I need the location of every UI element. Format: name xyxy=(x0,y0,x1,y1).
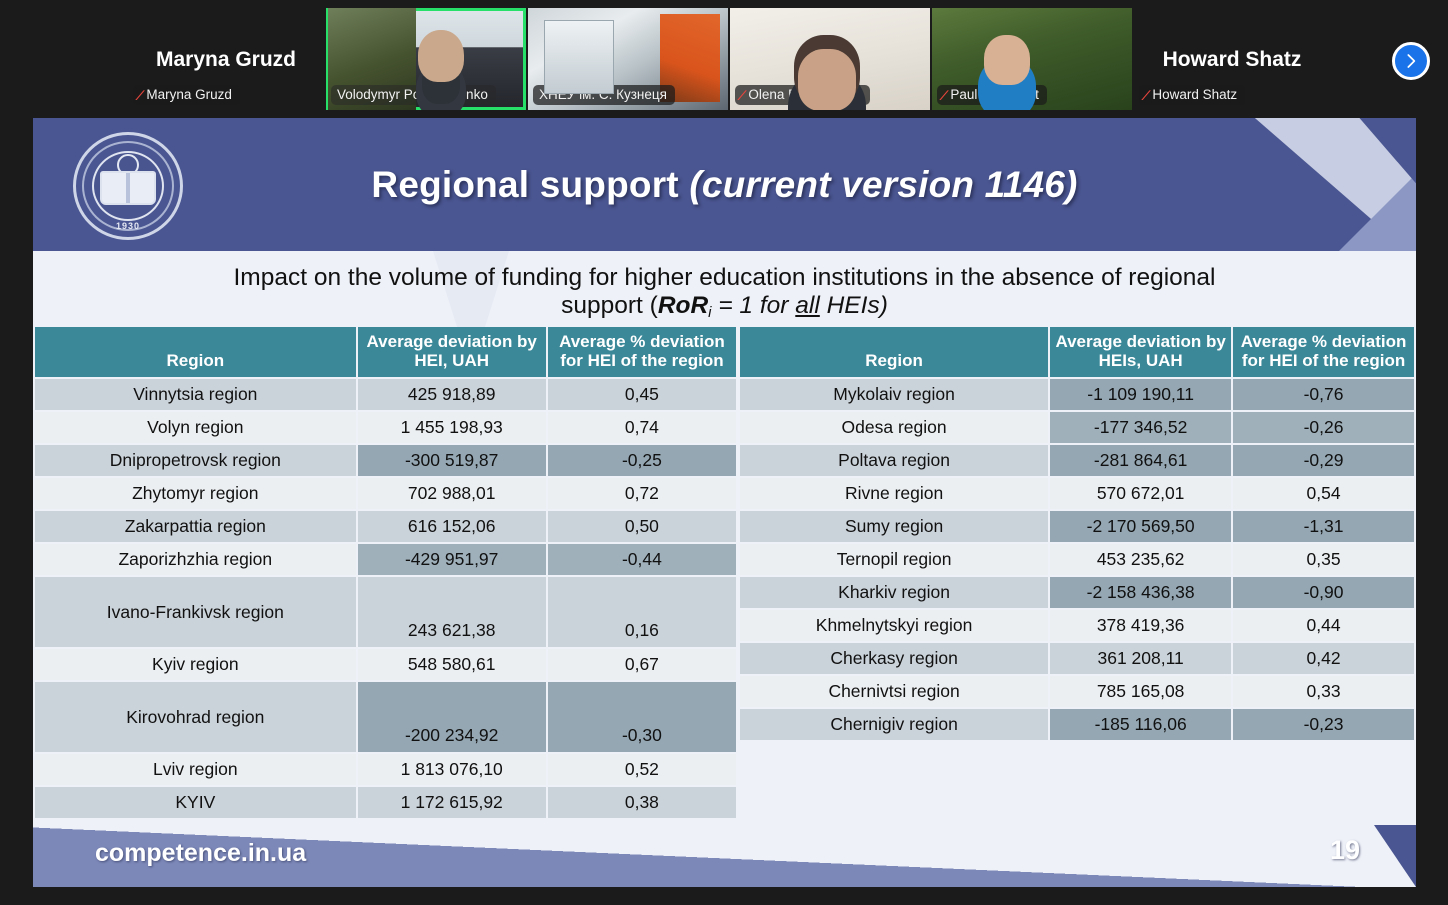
table-row: Dnipropetrovsk region-300 519,87-0,25 xyxy=(35,445,736,476)
cell-deviation: 785 165,08 xyxy=(1050,676,1231,707)
subtitle-middle: = 1 for xyxy=(712,292,796,319)
cell-region: KYIV xyxy=(35,787,356,818)
next-participants-button[interactable] xyxy=(1392,42,1430,80)
chevron-right-icon xyxy=(1403,53,1419,69)
slide-page-number: 19 xyxy=(1330,835,1360,866)
table-row: Ivano-Frankivsk region243 621,380,16 xyxy=(35,577,736,647)
cell-deviation: 1 455 198,93 xyxy=(358,412,546,443)
subtitle-suffix: HEIs) xyxy=(820,292,888,319)
column-header-deviation: Average deviation by HEI, UAH xyxy=(358,327,546,377)
cell-deviation: -200 234,92 xyxy=(358,682,546,752)
cell-percent: 0,52 xyxy=(548,754,736,785)
cell-region: Ternopil region xyxy=(740,544,1048,575)
cell-deviation: 548 580,61 xyxy=(358,649,546,680)
cell-region: Zakarpattia region xyxy=(35,511,356,542)
video-tile-3[interactable]: ХНЕУ ім. С. Кузнеця xyxy=(528,8,728,110)
cell-region: Chernigiv region xyxy=(740,709,1048,740)
table-row: Mykolaiv region-1 109 190,11-0,76 xyxy=(740,379,1414,410)
table-row: Zhytomyr region702 988,010,72 xyxy=(35,478,736,509)
cell-percent: 0,50 xyxy=(548,511,736,542)
cell-region: Dnipropetrovsk region xyxy=(35,445,356,476)
muted-microphone-icon: ∕ xyxy=(942,88,947,102)
table-right: RegionAverage deviation by HEIs, UAHAver… xyxy=(738,325,1416,742)
cell-percent: 0,45 xyxy=(548,379,736,410)
cell-percent: -0,44 xyxy=(548,544,736,575)
cell-deviation: -429 951,97 xyxy=(358,544,546,575)
book-icon xyxy=(100,171,156,205)
participant-display-name: Maryna Gruzd xyxy=(128,48,324,72)
video-tile-6[interactable]: Howard Shatz∕Howard Shatz xyxy=(1134,8,1330,110)
table-row: Kirovohrad region-200 234,92-0,30 xyxy=(35,682,736,752)
cell-deviation: 378 419,36 xyxy=(1050,610,1231,641)
participant-name-bar: ∕Olena Rayevnyeva xyxy=(735,85,870,105)
participant-name-bar: Volodymyr Ponomarenko xyxy=(331,85,496,105)
participant-name-label: Volodymyr Ponomarenko xyxy=(337,87,488,102)
subtitle-ror: RoR xyxy=(658,292,708,319)
cell-region: Ivano-Frankivsk region xyxy=(35,577,356,647)
cell-region: Poltava region xyxy=(740,445,1048,476)
cell-deviation: -2 158 436,38 xyxy=(1050,577,1231,608)
cell-percent: -1,31 xyxy=(1233,511,1414,542)
table-row: Sumy region-2 170 569,50-1,31 xyxy=(740,511,1414,542)
column-header-region: Region xyxy=(740,327,1048,377)
cell-region: Kyiv region xyxy=(35,649,356,680)
cell-percent: 0,16 xyxy=(548,577,736,647)
cell-percent: -0,29 xyxy=(1233,445,1414,476)
column-header-percent: Average % deviation for HEI of the regio… xyxy=(548,327,736,377)
participant-name-label: Paul Seabright xyxy=(950,87,1039,102)
university-logo: 1930 xyxy=(73,132,183,240)
cell-region: Zhytomyr region xyxy=(35,478,356,509)
cell-percent: 0,67 xyxy=(548,649,736,680)
page-title-main: Regional support xyxy=(371,164,689,205)
cell-deviation: -1 109 190,11 xyxy=(1050,379,1231,410)
column-header-deviation: Average deviation by HEIs, UAH xyxy=(1050,327,1231,377)
cell-deviation: -185 116,06 xyxy=(1050,709,1231,740)
subtitle-line-1: Impact on the volume of funding for high… xyxy=(234,264,1216,291)
column-header-region: Region xyxy=(35,327,356,377)
cell-deviation: 570 672,01 xyxy=(1050,478,1231,509)
table-header-row: RegionAverage deviation by HEI, UAHAvera… xyxy=(35,327,736,377)
participant-name-bar: ∕Maryna Gruzd xyxy=(133,85,240,105)
cell-deviation: -177 346,52 xyxy=(1050,412,1231,443)
cell-deviation: 1 172 615,92 xyxy=(358,787,546,818)
video-conference-strip: Maryna Gruzd∕Maryna GruzdVolodymyr Ponom… xyxy=(0,0,1448,118)
cell-percent: -0,76 xyxy=(1233,379,1414,410)
page-title: Regional support (current version 1146) xyxy=(203,164,1246,206)
video-tile-1[interactable]: Maryna Gruzd∕Maryna Gruzd xyxy=(128,8,324,110)
participant-name-bar: ∕Howard Shatz xyxy=(1139,85,1245,105)
table-row: Kharkiv region-2 158 436,38-0,90 xyxy=(740,577,1414,608)
cell-deviation: 1 813 076,10 xyxy=(358,754,546,785)
cell-deviation: 616 152,06 xyxy=(358,511,546,542)
table-row: Kyiv region548 580,610,67 xyxy=(35,649,736,680)
table-row: Zakarpattia region616 152,060,50 xyxy=(35,511,736,542)
cell-percent: -0,30 xyxy=(548,682,736,752)
participant-name-label: Maryna Gruzd xyxy=(146,87,232,102)
table-row: Chernivtsi region785 165,080,33 xyxy=(740,676,1414,707)
cell-deviation: 425 918,89 xyxy=(358,379,546,410)
muted-microphone-icon: ∕ xyxy=(138,88,143,102)
cell-region: Lviv region xyxy=(35,754,356,785)
slide-footer: competence.in.ua 19 xyxy=(33,825,1416,887)
table-row: Chernigiv region-185 116,06-0,23 xyxy=(740,709,1414,740)
cell-percent: 0,44 xyxy=(1233,610,1414,641)
participant-name-bar: ∕Paul Seabright xyxy=(937,85,1047,105)
subtitle-prefix: support ( xyxy=(561,292,658,319)
video-tile-2[interactable]: Volodymyr Ponomarenko xyxy=(326,8,526,110)
table-row: Rivne region570 672,010,54 xyxy=(740,478,1414,509)
slide-title-band: 1930 Regional support (current version 1… xyxy=(33,118,1416,251)
column-header-percent: Average % deviation for HEI of the regio… xyxy=(1233,327,1414,377)
cell-percent: 0,72 xyxy=(548,478,736,509)
cell-deviation: 361 208,11 xyxy=(1050,643,1231,674)
cell-region: Kharkiv region xyxy=(740,577,1048,608)
cell-percent: 0,42 xyxy=(1233,643,1414,674)
presentation-slide: 1930 Regional support (current version 1… xyxy=(33,118,1416,887)
cell-percent: -0,25 xyxy=(548,445,736,476)
cell-percent: 0,35 xyxy=(1233,544,1414,575)
cell-region: Chernivtsi region xyxy=(740,676,1048,707)
table-row: Poltava region-281 864,61-0,29 xyxy=(740,445,1414,476)
subtitle-all: all xyxy=(795,292,820,319)
participant-name-label: Olena Rayevnyeva xyxy=(748,87,862,102)
muted-microphone-icon: ∕ xyxy=(1144,88,1149,102)
cell-region: Sumy region xyxy=(740,511,1048,542)
cell-percent: -0,26 xyxy=(1233,412,1414,443)
cell-deviation: 702 988,01 xyxy=(358,478,546,509)
cell-percent: -0,23 xyxy=(1233,709,1414,740)
logo-year: 1930 xyxy=(73,221,183,231)
page-title-version: (current version 1146) xyxy=(689,164,1077,205)
cell-percent: 0,74 xyxy=(548,412,736,443)
table-row: Volyn region1 455 198,930,74 xyxy=(35,412,736,443)
table-header-row: RegionAverage deviation by HEIs, UAHAver… xyxy=(740,327,1414,377)
cell-region: Zaporizhzhia region xyxy=(35,544,356,575)
cell-region: Volyn region xyxy=(35,412,356,443)
video-tile-4[interactable]: ∕Olena Rayevnyeva xyxy=(730,8,930,110)
cell-region: Khmelnytskyi region xyxy=(740,610,1048,641)
cell-deviation: -2 170 569,50 xyxy=(1050,511,1231,542)
table-row: Zaporizhzhia region-429 951,97-0,44 xyxy=(35,544,736,575)
table-row: Cherkasy region361 208,110,42 xyxy=(740,643,1414,674)
cell-deviation: 243 621,38 xyxy=(358,577,546,647)
cell-region: Kirovohrad region xyxy=(35,682,356,752)
cell-region: Cherkasy region xyxy=(740,643,1048,674)
participant-name-label: Howard Shatz xyxy=(1152,87,1237,102)
cell-region: Rivne region xyxy=(740,478,1048,509)
table-row: KYIV1 172 615,920,38 xyxy=(35,787,736,818)
muted-microphone-icon: ∕ xyxy=(740,88,745,102)
cell-region: Odesa region xyxy=(740,412,1048,443)
cell-region: Vinnytsia region xyxy=(35,379,356,410)
table-row: Lviv region1 813 076,100,52 xyxy=(35,754,736,785)
table-row: Vinnytsia region425 918,890,45 xyxy=(35,379,736,410)
participant-name-bar: ХНЕУ ім. С. Кузнеця xyxy=(533,85,675,105)
cell-percent: 0,33 xyxy=(1233,676,1414,707)
participant-name-label: ХНЕУ ім. С. Кузнеця xyxy=(539,87,667,102)
slide-subtitle: Impact on the volume of funding for high… xyxy=(93,264,1356,322)
cell-region: Mykolaiv region xyxy=(740,379,1048,410)
footer-website: competence.in.ua xyxy=(95,839,306,868)
table-row: Ternopil region453 235,620,35 xyxy=(740,544,1414,575)
table-left: RegionAverage deviation by HEI, UAHAvera… xyxy=(33,325,738,820)
cell-percent: 0,38 xyxy=(548,787,736,818)
table-row: Khmelnytskyi region378 419,360,44 xyxy=(740,610,1414,641)
video-tile-5[interactable]: ∕Paul Seabright xyxy=(932,8,1132,110)
cell-deviation: -300 519,87 xyxy=(358,445,546,476)
cell-deviation: -281 864,61 xyxy=(1050,445,1231,476)
cell-percent: -0,90 xyxy=(1233,577,1414,608)
cell-percent: 0,54 xyxy=(1233,478,1414,509)
table-row: Odesa region-177 346,52-0,26 xyxy=(740,412,1414,443)
participant-display-name: Howard Shatz xyxy=(1134,48,1330,72)
cell-deviation: 453 235,62 xyxy=(1050,544,1231,575)
decor-triangle-dark xyxy=(1356,118,1416,188)
